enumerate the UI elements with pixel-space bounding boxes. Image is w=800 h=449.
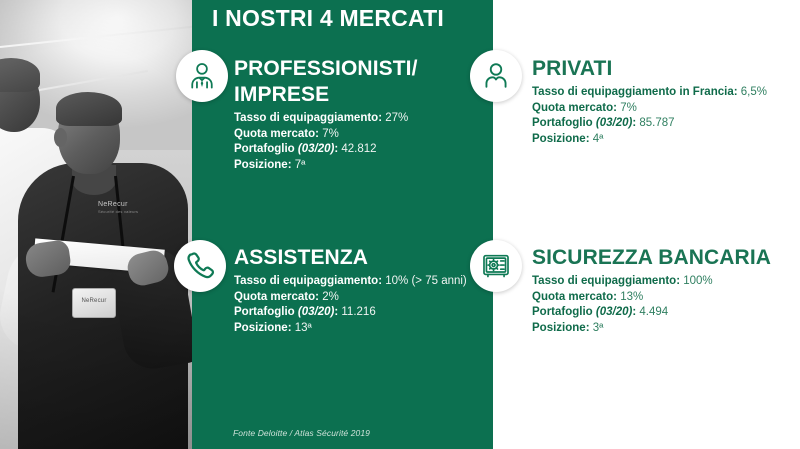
metric-value: 13% <box>620 291 643 303</box>
metric-value: 27% <box>385 112 408 124</box>
metric-value: 7% <box>620 102 637 114</box>
metric-row: Portafoglio (03/20): 4.494 <box>532 305 800 321</box>
metric-label: Quota mercato <box>532 102 613 114</box>
market-card-professionisti-title: PROFESSIONISTI/ IMPRESE <box>234 56 494 108</box>
metric-value: 6,5% <box>741 86 767 98</box>
metric-label: Portafoglio <box>234 143 295 155</box>
metric-row: Posizione: 3ª <box>532 321 800 337</box>
metric-label: Portafoglio <box>532 306 593 318</box>
metric-value: 13ª <box>295 322 312 334</box>
market-card-professionisti-title-line2: IMPRESE <box>234 82 494 108</box>
metric-label: Tasso di equipaggiamento <box>234 112 378 124</box>
metric-period: (03/20) <box>596 306 632 318</box>
metric-value: 4.494 <box>639 306 668 318</box>
metric-period: (03/20) <box>596 117 632 129</box>
market-card-sicurezza-bancaria-title: SICUREZZA BANCARIA <box>532 245 800 271</box>
market-card-privati-title: PRIVATI <box>532 56 800 82</box>
metric-value: 7% <box>322 128 339 140</box>
metric-row: Quota mercato: 7% <box>234 127 494 143</box>
metric-label: Portafoglio <box>532 117 593 129</box>
photo-vignette <box>0 0 196 449</box>
metric-row: Quota mercato: 13% <box>532 290 800 306</box>
businessperson-icon <box>176 50 228 102</box>
metric-value: 11.216 <box>341 306 375 318</box>
page-title: I NOSTRI 4 MERCATI <box>212 3 502 33</box>
metric-label: Quota mercato <box>532 291 613 303</box>
metric-period: (03/20) <box>298 306 334 318</box>
metric-value: 7ª <box>295 159 306 171</box>
metric-label: Posizione <box>234 159 288 171</box>
metric-label: Posizione <box>532 322 586 334</box>
source-note: Fonte Deloitte / Atlas Sécurité 2019 <box>233 428 370 438</box>
metric-label: Posizione <box>234 322 288 334</box>
person-icon <box>470 50 522 102</box>
metric-row: Portafoglio (03/20): 42.812 <box>234 142 494 158</box>
metric-row: Tasso di equipaggiamento in Francia: 6,5… <box>532 85 800 101</box>
metric-value: 100% <box>683 275 712 287</box>
metric-value: 85.787 <box>639 117 674 129</box>
metric-value: 42.812 <box>341 143 376 155</box>
metric-row: Quota mercato: 7% <box>532 101 800 117</box>
metric-row: Tasso di equipaggiamento: 100% <box>532 274 800 290</box>
metric-label: Tasso di equipaggiamento in Francia <box>532 86 734 98</box>
background-photo: NeRecur Sécurité des valeurs NeRecur <box>0 0 196 449</box>
metric-label: Tasso di equipaggiamento <box>532 275 676 287</box>
safe-vault-icon <box>470 240 522 292</box>
market-card-privati-body: PRIVATI Tasso di equipaggiamento in Fran… <box>532 56 800 147</box>
metric-label: Posizione <box>532 133 586 145</box>
metric-period: (03/20) <box>298 143 334 155</box>
phone-icon <box>174 240 226 292</box>
market-card-sicurezza-bancaria-body: SICUREZZA BANCARIA Tasso di equipaggiame… <box>532 245 800 336</box>
metric-row: Posizione: 7ª <box>234 158 494 174</box>
metric-label: Quota mercato <box>234 128 315 140</box>
metric-label: Quota mercato <box>234 291 315 303</box>
metric-row: Portafoglio (03/20): 11.216 <box>234 305 514 321</box>
market-card-professionisti-body: PROFESSIONISTI/ IMPRESE Tasso di equipag… <box>234 56 494 173</box>
metric-value: 3ª <box>593 322 604 334</box>
metric-value: 10% (> 75 anni) <box>385 275 467 287</box>
metric-row: Posizione: 13ª <box>234 321 514 337</box>
metric-row: Posizione: 4ª <box>532 132 800 148</box>
market-card-professionisti-title-line1: PROFESSIONISTI/ <box>234 56 494 82</box>
metric-row: Tasso di equipaggiamento: 27% <box>234 111 494 127</box>
metric-label: Portafoglio <box>234 306 295 318</box>
metric-row: Quota mercato: 2% <box>234 290 514 306</box>
metric-value: 2% <box>322 291 339 303</box>
slide-canvas: NeRecur Sécurité des valeurs NeRecur I N… <box>0 0 800 449</box>
metric-row: Portafoglio (03/20): 85.787 <box>532 116 800 132</box>
metric-label: Tasso di equipaggiamento <box>234 275 378 287</box>
metric-value: 4ª <box>593 133 604 145</box>
